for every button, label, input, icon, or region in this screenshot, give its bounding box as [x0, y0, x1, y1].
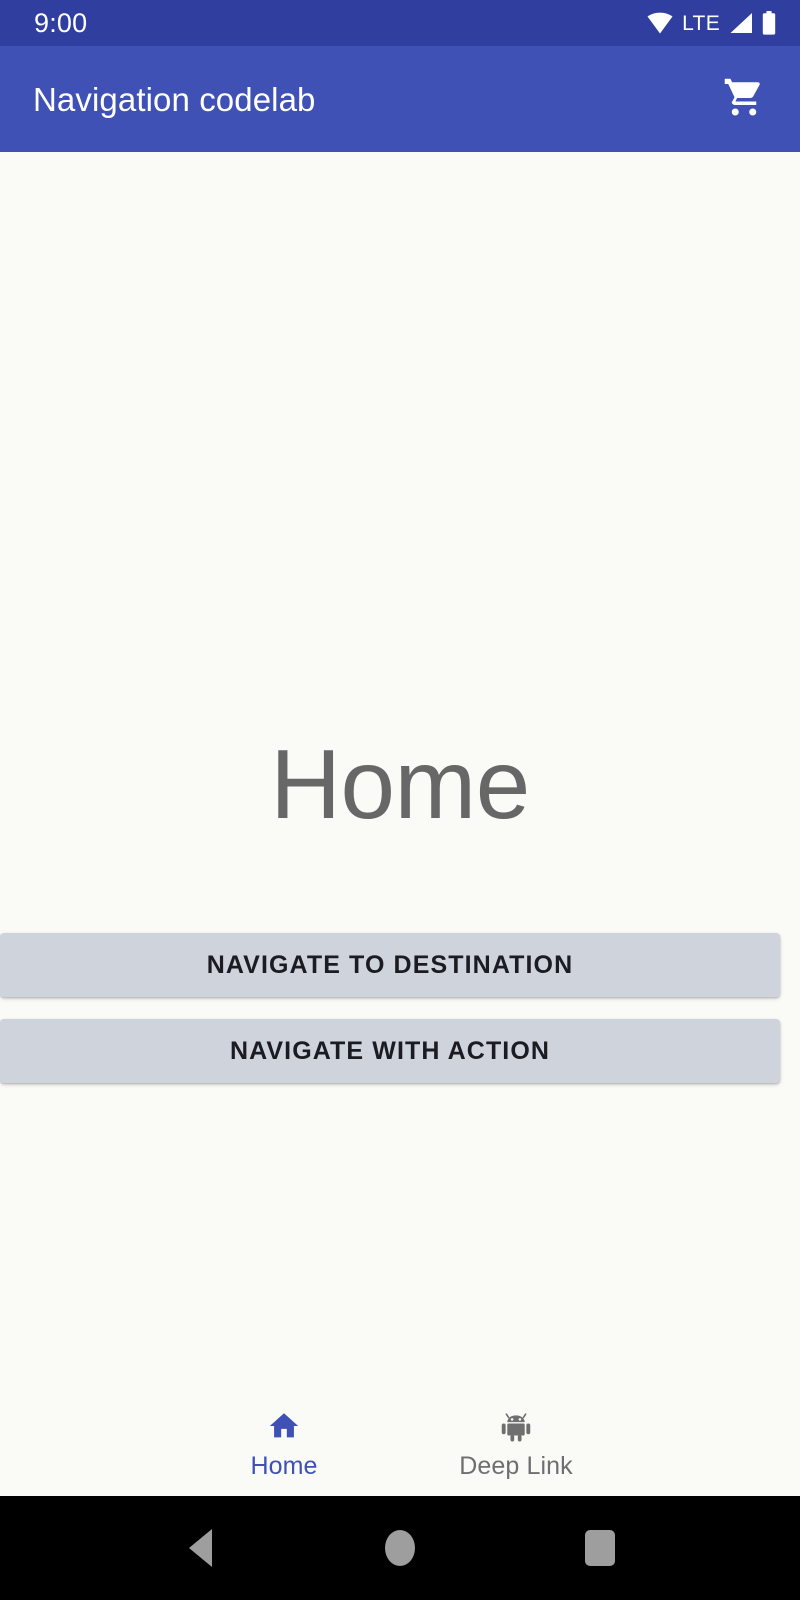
- cellular-signal-icon: [729, 12, 753, 34]
- wifi-icon: [647, 12, 673, 34]
- status-bar: 9:00 LTE: [0, 0, 800, 46]
- page-title: Home: [0, 735, 800, 833]
- bottom-nav-label-home: Home: [250, 1454, 317, 1479]
- status-bar-icons: LTE: [647, 11, 776, 35]
- shopping-cart-icon: [723, 77, 765, 122]
- lte-label: LTE: [682, 13, 720, 34]
- home-icon: [265, 1406, 303, 1446]
- action-button-stack: NAVIGATE TO DESTINATION NAVIGATE WITH AC…: [0, 933, 780, 1083]
- bottom-nav-label-deep-link: Deep Link: [459, 1454, 572, 1479]
- bottom-nav-item-deep-link[interactable]: Deep Link: [400, 1406, 632, 1479]
- system-recents-button[interactable]: [560, 1508, 640, 1588]
- bottom-nav-item-home[interactable]: Home: [168, 1406, 400, 1479]
- triangle-back-icon: [189, 1529, 212, 1567]
- system-home-button[interactable]: [360, 1508, 440, 1588]
- navigate-with-action-button[interactable]: NAVIGATE WITH ACTION: [0, 1019, 780, 1083]
- system-navigation-bar: [0, 1496, 800, 1600]
- status-bar-clock: 9:00: [34, 10, 87, 37]
- bottom-navigation-bar: Home: [0, 1392, 800, 1496]
- navigate-to-destination-button[interactable]: NAVIGATE TO DESTINATION: [0, 933, 780, 997]
- main-content: Home NAVIGATE TO DESTINATION NAVIGATE WI…: [0, 152, 800, 1392]
- square-recents-icon: [585, 1530, 615, 1566]
- circle-home-icon: [385, 1530, 415, 1566]
- android-robot-icon: [497, 1406, 535, 1446]
- phone-screen: 9:00 LTE Navigation codelab: [0, 0, 800, 1600]
- battery-icon: [762, 11, 776, 35]
- app-bar: Navigation codelab: [0, 46, 800, 152]
- app-bar-title: Navigation codelab: [33, 83, 316, 116]
- shopping-cart-button[interactable]: [716, 71, 772, 127]
- system-back-button[interactable]: [160, 1508, 240, 1588]
